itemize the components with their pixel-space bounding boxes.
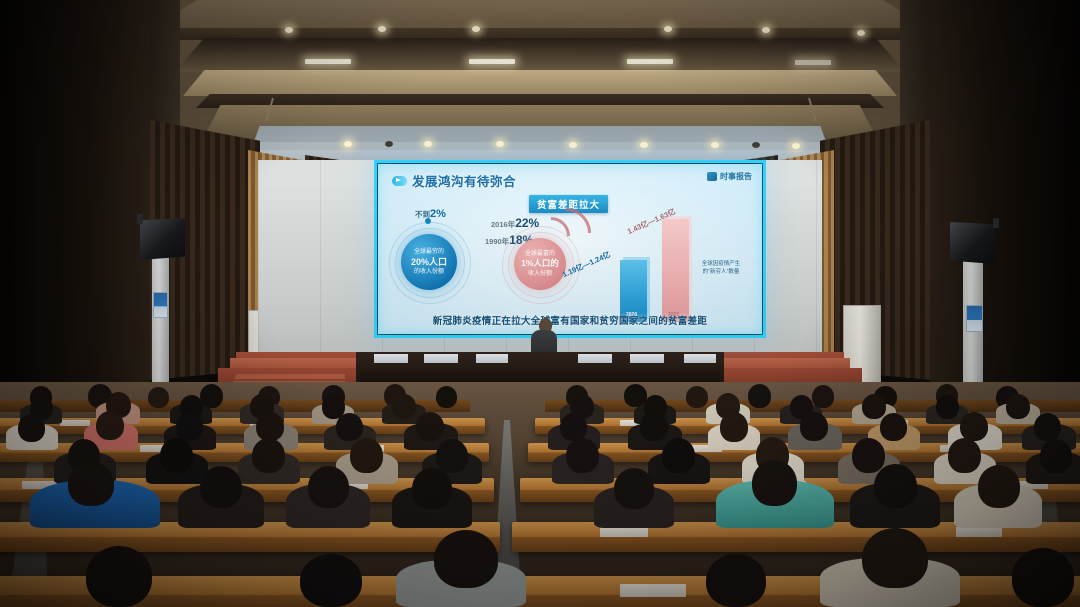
audience-head [176,413,203,441]
speaker-mount-left [137,214,143,224]
circle-richest-share: 全球最富的 1%人口的 收入份额 [514,238,566,290]
loudspeaker-right [950,222,995,264]
ceiling-downlight-8-off [385,141,393,147]
audience-head [862,394,886,419]
audience-head [720,412,748,442]
audience-head [252,438,285,473]
ceiling-downlight-9 [424,141,432,147]
table-paper-2 [424,354,458,363]
audience-head [308,466,349,508]
logo-mark-icon [707,172,717,181]
wall-right-dark [930,0,1080,430]
ceiling-downlight-13 [711,142,719,148]
label-value: 2% [430,208,446,220]
desk-paper [956,527,1002,537]
ceiling-strip-light-2 [469,59,515,64]
ceiling-coffer-3 [183,70,897,96]
ceiling-downlight-15 [792,143,800,149]
audience-head-foreground [86,546,152,607]
audience-head [800,412,828,441]
ceiling-downlight-10 [496,141,504,147]
table-paper-6 [684,354,716,363]
slide-logo-text: 时事报告 [720,171,752,182]
audience-head [748,384,771,408]
circle-richest-line3: 收入份额 [528,270,552,278]
audience-head [812,385,834,408]
audience-head [148,387,169,408]
ceiling-coffer-1 [150,0,930,30]
slide-title-bar: 发展鸿沟有待弥合 [392,171,516,190]
table-paper-4 [578,354,612,363]
audience-head [948,438,981,473]
audience-head [1006,394,1030,419]
audience-head [686,386,708,408]
audience-head [614,468,654,509]
audience-head [662,438,695,473]
audience-head [68,462,114,506]
wall-sign-right [966,305,983,332]
table-paper-3 [476,354,508,363]
audience-head [880,413,907,441]
slide-logo: 时事报告 [707,171,752,182]
audience-head [640,412,668,441]
year-2016: 2016年 [491,220,515,229]
bar-new-poor-2021: 2021 [662,219,689,322]
label-less-than-2-percent: 不到2% [415,208,446,220]
audience-head-foreground [434,530,498,588]
audience-head-foreground [862,528,928,588]
speaker-mount-right [993,218,999,228]
audience-head [852,438,885,473]
ceiling-downlight-1 [285,27,293,33]
slide-caption: 新冠肺炎疫情正在拉大全球富有国家和贫穷国家之间的贫富差距 [378,313,762,327]
label-prefix: 不到 [415,210,430,219]
ceiling-downlight-2 [378,26,386,32]
audience-head [566,438,599,473]
audience-head [96,411,124,440]
ceiling-downlight-12 [640,142,648,148]
audience-head [416,412,444,441]
audience-head [200,466,242,508]
ceiling-downlight-6 [857,30,865,36]
audience-head [436,439,468,473]
audience-head-foreground [300,554,362,607]
wall-left-dark [0,0,150,430]
presentation-slide: 发展鸿沟有待弥合 时事报告 贫富差距拉大 不到2% 2016年22% 1990年… [378,164,762,334]
audience-head [350,438,383,473]
wall-sign-left [153,292,168,318]
label-year-2016: 2016年22% [491,216,539,230]
bar-chart-note: 全球因疫情产生的“新穷人”数量 [696,260,746,277]
slide-title: 发展鸿沟有待弥合 [412,171,516,190]
circle-poorest-share: 全球最穷的 20%人口 的收入份额 [401,234,457,290]
audience-head [936,395,959,419]
audience-head [160,438,193,473]
audience-head [336,413,363,441]
ceiling-strip-light-4 [795,60,831,65]
loudspeaker-left [140,218,185,260]
ceiling-coffer-2 [175,38,905,72]
audience-head [18,414,45,442]
ceiling-downlight-3 [472,26,480,32]
desk-paper [620,584,686,597]
audience-head-foreground [706,554,766,607]
audience-head [412,468,452,509]
audience-head [256,412,284,441]
desk-paper [60,420,90,426]
circle-richest-line2: 1%人口的 [521,258,559,269]
year-1990: 1990年 [485,237,509,246]
audience-head [960,412,988,441]
desk-paper [600,527,648,537]
circle-poorest-line2: 20%人口 [411,256,447,268]
ceiling-strip-light-3 [627,59,673,64]
table-paper-1 [374,354,408,363]
circle-poorest-line3: 的收入份额 [414,268,444,276]
chevron-right-icon [392,176,407,186]
circle-poorest-line1: 全球最穷的 [414,248,444,256]
circle-richest-line1: 全球最富的 [525,250,555,258]
table-paper-5 [630,354,664,363]
ceiling-downlight-7 [344,141,352,147]
ceiling-downlight-4 [664,26,672,32]
audience-head [1034,413,1061,441]
audience-head [978,465,1020,508]
audience-head [1040,439,1072,473]
audience-head [392,394,416,419]
audience-head [436,386,457,408]
lecture-hall-photo: 发展鸿沟有待弥合 时事报告 贫富差距拉大 不到2% 2016年22% 1990年… [0,0,1080,607]
audience-head [560,413,587,441]
ceiling-downlight-11 [569,142,577,148]
ceiling-downlight-5 [762,27,770,33]
audience-head [752,460,797,506]
ceiling-strip-light-1 [305,59,351,64]
desk-row-6-right [504,576,1080,607]
audience-head-foreground [1012,548,1074,607]
ceiling-downlight-14-off [752,142,760,148]
audience-head [874,464,917,508]
